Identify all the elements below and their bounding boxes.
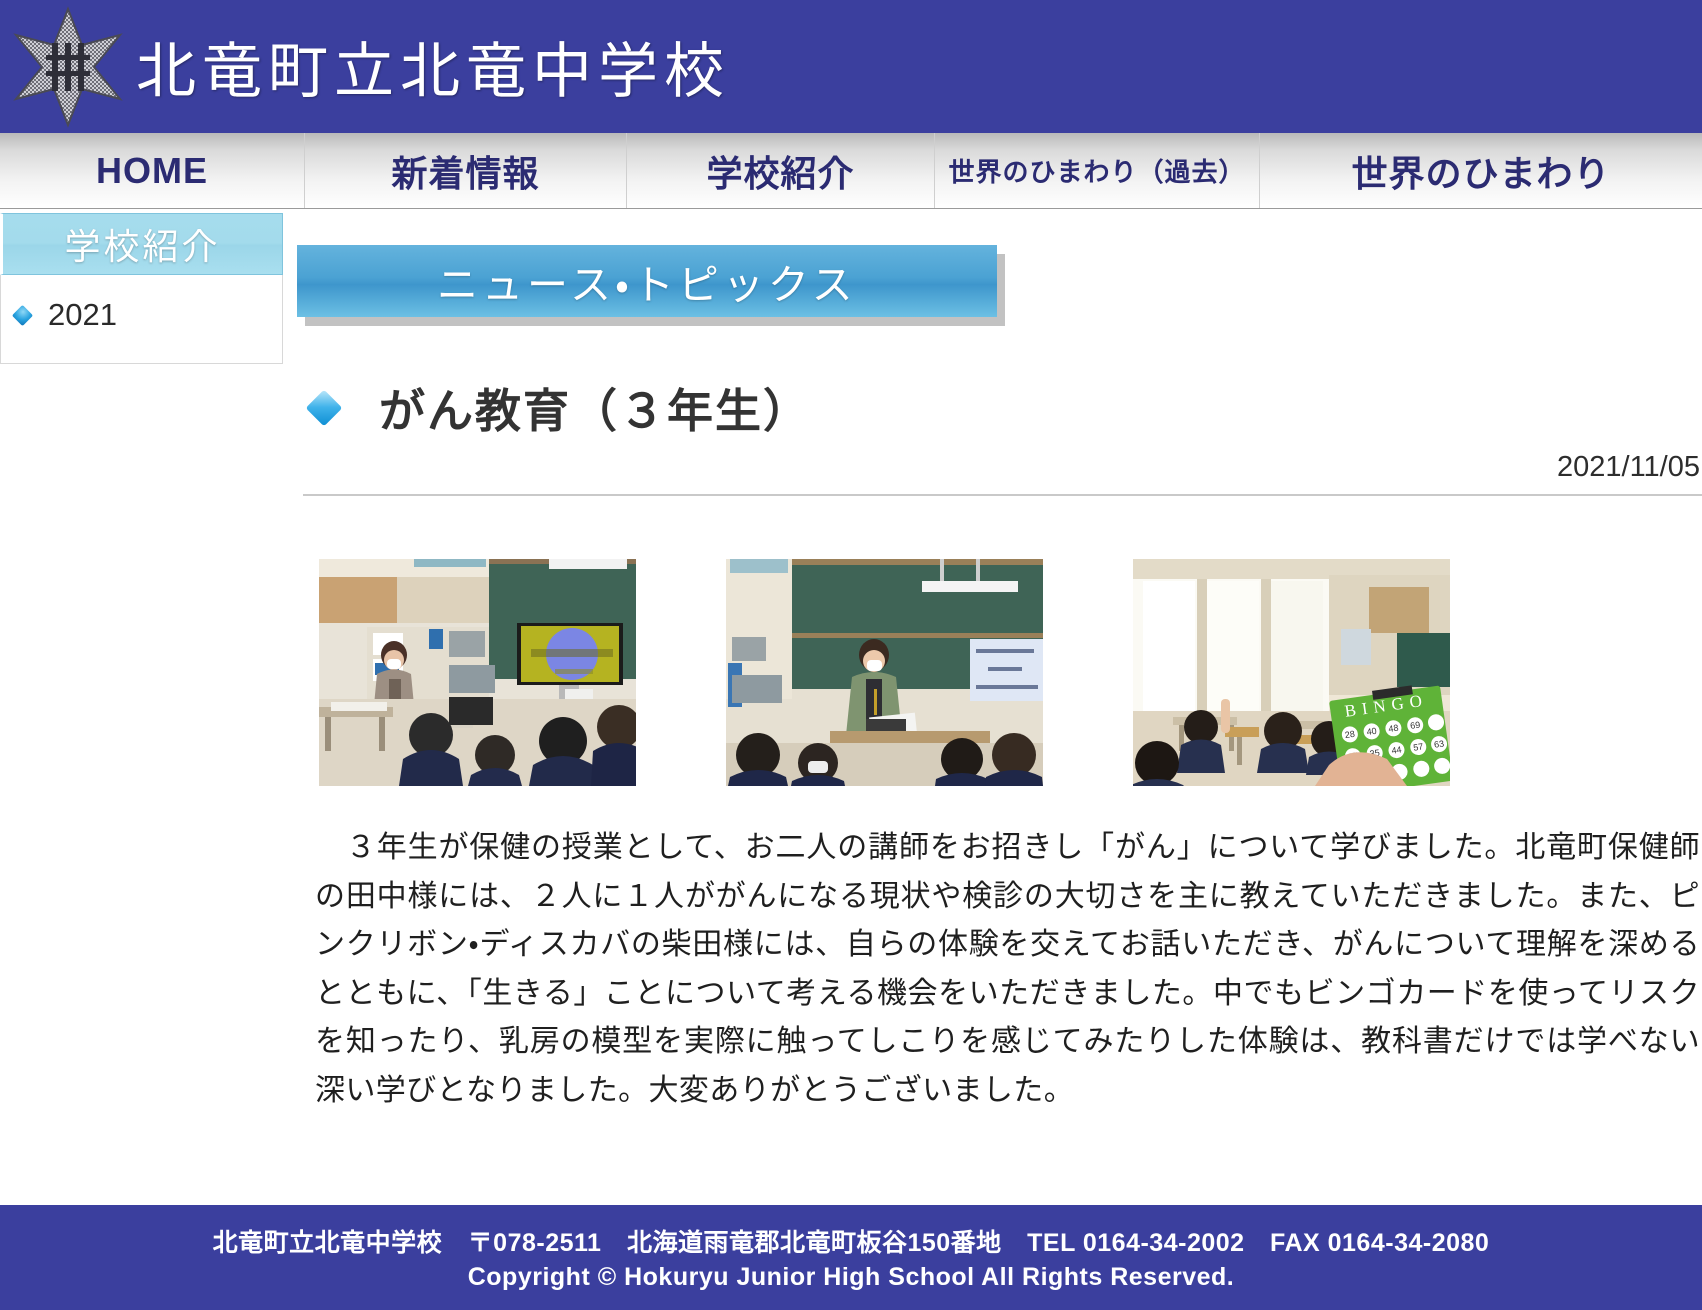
nav-item-school-intro-label: 学校紹介 bbox=[706, 145, 854, 197]
school-crest-icon bbox=[6, 5, 130, 129]
main-nav: HOME 新着情報 学校紹介 世界のひまわり（過去） 世界のひまわり bbox=[0, 133, 1702, 209]
svg-text:44: 44 bbox=[1391, 744, 1402, 755]
photo-lecture-presentation bbox=[319, 559, 636, 786]
sidebar-list: 2021 bbox=[0, 275, 283, 364]
nav-item-world-sunflower-past[interactable]: 世界のひまわり（過去） bbox=[935, 133, 1260, 208]
photo-row: BINGO 284048 bbox=[297, 559, 1702, 786]
article-date: 2021/11/05 bbox=[297, 451, 1702, 484]
footer-copyright: Copyright © Hokuryu Junior High School A… bbox=[468, 1263, 1235, 1292]
nav-item-home[interactable]: HOME bbox=[0, 133, 305, 208]
site-footer: 北竜町立北竜中学校 〒078-2511 北海道雨竜郡北竜町板谷150番地 TEL… bbox=[0, 1205, 1702, 1310]
topics-banner-wrap: ニュース・トピックス bbox=[297, 245, 997, 317]
title-divider bbox=[303, 494, 1702, 496]
nav-item-news-label: 新着情報 bbox=[391, 145, 539, 197]
article-body: ３年生が保健の授業として、お二人の講師をお招きし「がん」について学びました。北竜… bbox=[297, 824, 1702, 1116]
article-title-row: がん教育（３年生） bbox=[297, 375, 1702, 441]
nav-item-school-intro[interactable]: 学校紹介 bbox=[627, 133, 935, 208]
footer-contact-line: 北竜町立北竜中学校 〒078-2511 北海道雨竜郡北竜町板谷150番地 TEL… bbox=[213, 1223, 1490, 1259]
nav-item-world-sunflower-label: 世界のひまわり bbox=[1351, 145, 1610, 197]
nav-item-home-label: HOME bbox=[96, 150, 208, 192]
page-root: 北竜町立北竜中学校 HOME 新着情報 学校紹介 世界のひまわり（過去） 世界の… bbox=[0, 0, 1702, 1310]
topics-banner: ニュース・トピックス bbox=[297, 245, 997, 317]
diamond-bullet-icon bbox=[12, 304, 33, 325]
sidebar-heading: 学校紹介 bbox=[0, 213, 283, 275]
svg-text:48: 48 bbox=[1388, 723, 1399, 734]
sidebar: 学校紹介 2021 bbox=[0, 209, 283, 364]
svg-text:40: 40 bbox=[1366, 726, 1377, 737]
diamond-icon bbox=[306, 390, 343, 427]
svg-text:69: 69 bbox=[1410, 720, 1421, 731]
main-content: ニュース・トピックス がん教育（３年生） 2021/11/05 bbox=[283, 209, 1702, 1116]
svg-text:63: 63 bbox=[1433, 738, 1444, 749]
svg-text:57: 57 bbox=[1413, 741, 1424, 752]
site-title: 北竜町立北竜中学校 bbox=[136, 23, 730, 110]
article-title: がん教育（３年生） bbox=[379, 375, 811, 441]
sidebar-heading-label: 学校紹介 bbox=[64, 218, 220, 270]
photo-speaker-slides bbox=[726, 559, 1043, 786]
content-row: 学校紹介 2021 ニュース・トピックス がん教育（３年生） bbox=[0, 209, 1702, 1094]
article: がん教育（３年生） 2021/11/05 bbox=[297, 375, 1702, 1116]
topics-banner-label: ニュース・トピックス bbox=[437, 251, 857, 311]
svg-text:28: 28 bbox=[1344, 729, 1355, 740]
sidebar-item-2021[interactable]: 2021 bbox=[1, 293, 282, 337]
nav-item-news[interactable]: 新着情報 bbox=[305, 133, 627, 208]
nav-item-world-sunflower-past-label: 世界のひまわり（過去） bbox=[948, 152, 1245, 189]
sidebar-item-2021-label: 2021 bbox=[48, 297, 117, 333]
nav-item-world-sunflower[interactable]: 世界のひまわり bbox=[1260, 133, 1702, 208]
site-header: 北竜町立北竜中学校 bbox=[0, 0, 1702, 133]
photo-bingo-card: BINGO 284048 bbox=[1133, 559, 1450, 786]
